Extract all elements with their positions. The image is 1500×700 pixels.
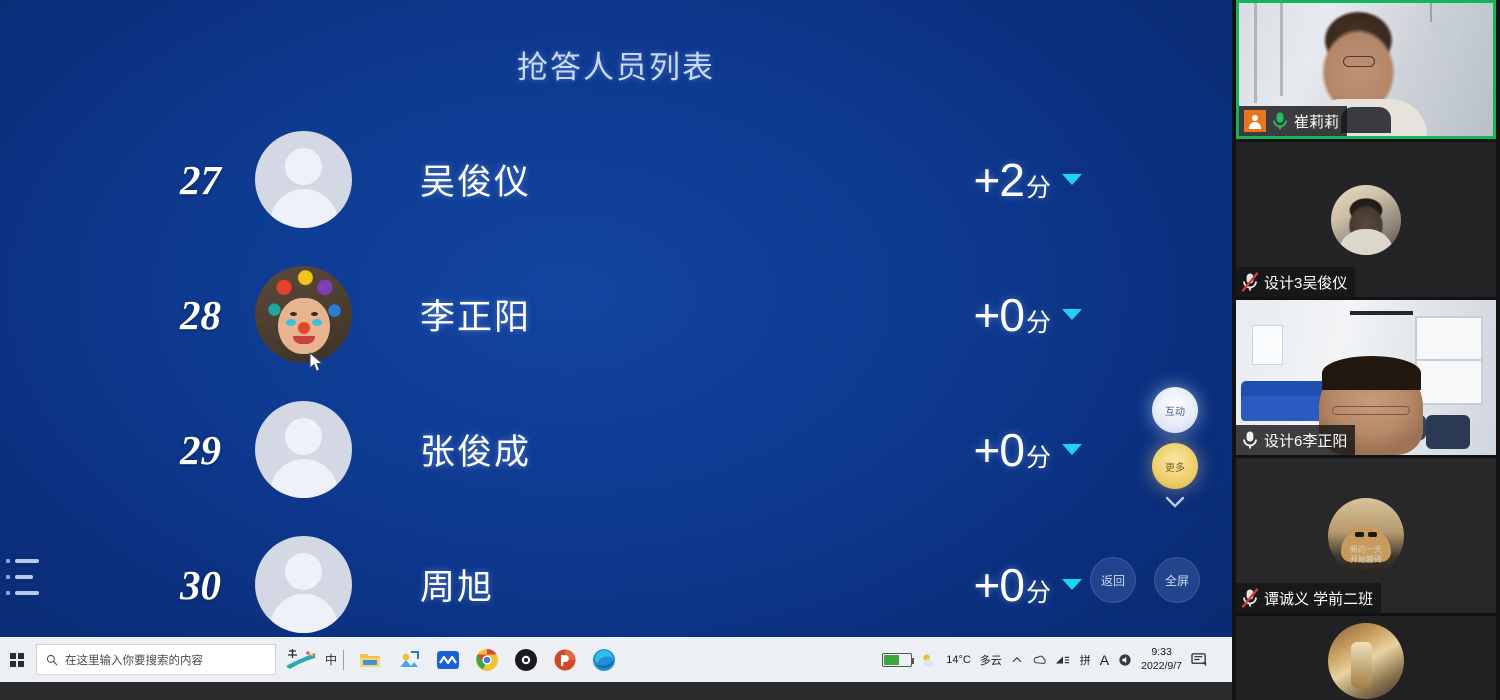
tray-weather: 多云 xyxy=(980,652,1002,668)
volume-icon[interactable] xyxy=(1118,653,1132,667)
participant-name: 李正阳 xyxy=(420,289,531,340)
score-unit: 分 xyxy=(1026,438,1051,474)
participant-name: 设计6李正阳 xyxy=(1264,430,1347,451)
mic-on-icon[interactable] xyxy=(1271,111,1289,131)
tray-date: 2022/9/7 xyxy=(1141,660,1182,673)
chevron-down-icon[interactable] xyxy=(1062,579,1082,590)
search-input[interactable]: 在这里输入你要搜索的内容 xyxy=(36,644,276,675)
score-value: +0 xyxy=(974,288,1024,342)
participant-rank: 29 xyxy=(0,426,255,474)
taskbar-icon-blue-app[interactable] xyxy=(436,648,460,672)
video-tile[interactable]: 设计6李正阳 xyxy=(1236,300,1496,455)
tray-clock[interactable]: 9:33 2022/9/7 xyxy=(1141,646,1182,672)
tray-time: 9:33 xyxy=(1141,646,1182,659)
start-button[interactable] xyxy=(0,637,34,682)
score-unit: 分 xyxy=(1026,168,1051,204)
mouse-cursor xyxy=(309,352,325,374)
taskbar-icon-photos-app[interactable] xyxy=(397,648,421,672)
avatar-caption-line2: 开始搬砖 xyxy=(1350,555,1382,564)
video-participant-rail: 崔莉莉 设计3吴俊仪 xyxy=(1232,0,1500,700)
mic-off-icon[interactable] xyxy=(1241,588,1259,608)
participant-nameplate: 崔莉莉 xyxy=(1239,106,1347,136)
taskbar-icon-dark-app[interactable] xyxy=(514,648,538,672)
participant-row[interactable]: 30 周旭 +0 分 xyxy=(0,517,1232,637)
search-icon xyxy=(46,654,58,666)
battery-icon[interactable] xyxy=(882,653,912,667)
page-title: 抢答人员列表 xyxy=(0,42,1232,87)
avatar-caption-line1: 新的一天 xyxy=(1350,545,1382,554)
more-button[interactable]: 更多 xyxy=(1152,443,1198,489)
participant-name: 吴俊仪 xyxy=(420,154,531,205)
chevron-down-icon[interactable] xyxy=(1163,494,1187,510)
score-value: +0 xyxy=(974,558,1024,612)
participant-list: 27 吴俊仪 +2 分 28 李正阳 +0 xyxy=(0,112,1232,637)
avatar xyxy=(255,131,352,228)
cloud-sync-icon[interactable] xyxy=(1032,653,1046,667)
avatar xyxy=(255,266,352,363)
chevron-down-icon[interactable] xyxy=(1062,444,1082,455)
windows-taskbar: 在这里输入你要搜索的内容 中 xyxy=(0,637,1232,682)
presentation-stage: 抢答人员列表 27 吴俊仪 +2 分 28 xyxy=(0,0,1232,637)
ime-indicator[interactable]: 中 xyxy=(286,649,337,671)
notifications-icon[interactable] xyxy=(1191,652,1208,667)
fullscreen-label: 全屏 xyxy=(1165,572,1189,589)
tray-temperature: 14°C xyxy=(946,654,971,666)
participant-name: 谭诚义 学前二班 xyxy=(1264,588,1373,609)
ime-logo-icon xyxy=(286,649,316,671)
tray-ime-indicator[interactable]: 拼 xyxy=(1080,652,1091,668)
fullscreen-button[interactable]: 全屏 xyxy=(1154,557,1200,603)
participant-row[interactable]: 28 李正阳 +0 分 xyxy=(0,247,1232,382)
score-value: +0 xyxy=(974,423,1024,477)
score-control[interactable]: +0 分 xyxy=(974,288,1082,342)
chevron-up-icon[interactable] xyxy=(1011,654,1023,666)
back-label: 返回 xyxy=(1101,572,1125,589)
taskbar-icon-edge[interactable] xyxy=(592,648,616,672)
more-label: 更多 xyxy=(1165,459,1185,474)
participant-name: 张俊成 xyxy=(420,424,531,475)
participant-rank: 27 xyxy=(0,156,255,204)
avatar xyxy=(255,401,352,498)
score-unit: 分 xyxy=(1026,573,1051,609)
participant-rank: 30 xyxy=(0,561,255,609)
video-tile[interactable]: 崔莉莉 xyxy=(1236,0,1496,139)
network-icon[interactable] xyxy=(1055,653,1071,667)
participant-nameplate: 谭诚义 学前二班 xyxy=(1236,583,1381,613)
video-tile[interactable]: 设计3吴俊仪 xyxy=(1236,142,1496,297)
taskbar-divider xyxy=(343,650,344,670)
participant-name: 设计3吴俊仪 xyxy=(1264,272,1347,293)
chevron-down-icon[interactable] xyxy=(1062,174,1082,185)
tray-keyboard-indicator[interactable]: A xyxy=(1100,652,1109,668)
interact-button[interactable]: 互动 xyxy=(1152,387,1198,433)
video-tile[interactable] xyxy=(1236,616,1496,700)
avatar xyxy=(255,536,352,633)
participant-row[interactable]: 27 吴俊仪 +2 分 xyxy=(0,112,1232,247)
taskbar-app-icons xyxy=(358,648,616,672)
interact-label: 互动 xyxy=(1165,403,1185,418)
system-tray: 14°C 多云 拼 A 9:33 2022/9/7 xyxy=(882,646,1216,672)
host-badge-icon xyxy=(1244,110,1266,132)
participant-row[interactable]: 29 张俊成 +0 分 xyxy=(0,382,1232,517)
participant-name: 崔莉莉 xyxy=(1294,111,1339,132)
participant-nameplate: 设计3吴俊仪 xyxy=(1236,267,1355,297)
video-tile[interactable]: 新的一天 开始搬砖 谭诚义 学前二班 xyxy=(1236,458,1496,613)
video-feed xyxy=(1236,616,1496,700)
taskbar-icon-chrome[interactable] xyxy=(475,648,499,672)
mic-on-icon[interactable] xyxy=(1241,430,1259,450)
chevron-down-icon[interactable] xyxy=(1062,309,1082,320)
score-control[interactable]: +2 分 xyxy=(974,153,1082,207)
screen-root: 抢答人员列表 27 吴俊仪 +2 分 28 xyxy=(0,0,1500,700)
participant-name: 周旭 xyxy=(420,559,494,610)
score-value: +2 xyxy=(974,153,1024,207)
score-control[interactable]: +0 分 xyxy=(974,423,1082,477)
taskbar-icon-powerpoint[interactable] xyxy=(553,648,577,672)
taskbar-icon-file-explorer[interactable] xyxy=(358,648,382,672)
participant-rank: 28 xyxy=(0,291,255,339)
desktop-bottom-strip xyxy=(0,682,1232,700)
score-control[interactable]: +0 分 xyxy=(974,558,1082,612)
ime-label: 中 xyxy=(325,651,337,668)
search-placeholder: 在这里输入你要搜索的内容 xyxy=(65,652,203,668)
taskbar-right-edge xyxy=(1216,637,1232,682)
score-unit: 分 xyxy=(1026,303,1051,339)
back-button[interactable]: 返回 xyxy=(1090,557,1136,603)
mic-off-icon[interactable] xyxy=(1241,272,1259,292)
participant-nameplate: 设计6李正阳 xyxy=(1236,425,1355,455)
weather-icon xyxy=(921,652,937,668)
